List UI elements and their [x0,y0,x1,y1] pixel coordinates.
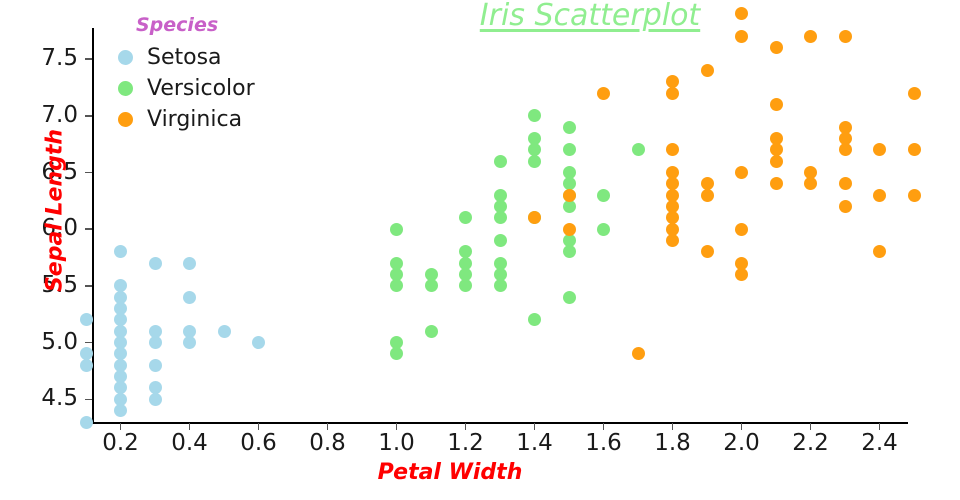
data-point-setosa [149,359,162,372]
data-point-setosa [114,404,127,417]
data-point-virginica [735,30,748,43]
x-axis-title: Petal Width [320,460,580,485]
data-point-virginica [908,189,921,202]
y-tick-mark [85,228,92,230]
data-point-versicolor [563,200,576,213]
x-tick-mark [327,423,329,430]
data-point-virginica [770,177,783,190]
y-tick-label: 5.0 [34,331,78,354]
data-point-versicolor [528,155,541,168]
data-point-versicolor [563,245,576,258]
data-point-versicolor [494,234,507,247]
x-tick-mark [120,423,122,430]
data-point-virginica [701,189,714,202]
data-point-virginica [701,64,714,77]
data-point-versicolor [597,189,610,202]
x-tick-label: 0.4 [160,432,220,455]
x-tick-label: 1.6 [574,432,634,455]
data-point-virginica [666,234,679,247]
data-point-versicolor [494,211,507,224]
data-point-versicolor [459,211,472,224]
data-point-versicolor [390,279,403,292]
y-tick-mark [85,342,92,344]
data-point-virginica [735,223,748,236]
data-point-virginica [908,143,921,156]
data-point-setosa [183,291,196,304]
x-tick-label: 1.2 [436,432,496,455]
data-point-virginica [804,177,817,190]
x-tick-label: 2.4 [850,432,910,455]
data-point-virginica [839,200,852,213]
data-point-versicolor [632,143,645,156]
x-tick-mark [741,423,743,430]
data-point-versicolor [425,279,438,292]
x-tick-label: 2.0 [712,432,772,455]
data-point-versicolor [494,155,507,168]
data-point-setosa [80,359,93,372]
data-point-virginica [701,245,714,258]
data-point-versicolor [563,121,576,134]
x-tick-label: 0.8 [298,432,358,455]
data-point-virginica [528,211,541,224]
data-point-setosa [114,245,127,258]
data-point-virginica [735,166,748,179]
data-point-setosa [80,313,93,326]
data-point-virginica [908,87,921,100]
data-point-virginica [632,347,645,360]
data-point-virginica [770,98,783,111]
data-point-virginica [563,223,576,236]
data-point-virginica [666,87,679,100]
data-point-setosa [218,325,231,338]
x-tick-mark [879,423,881,430]
data-point-versicolor [597,223,610,236]
data-point-virginica [666,143,679,156]
data-point-virginica [873,189,886,202]
data-point-virginica [873,143,886,156]
data-point-virginica [804,30,817,43]
data-point-virginica [770,155,783,168]
y-tick-mark [85,58,92,60]
x-tick-mark [603,423,605,430]
x-tick-mark [396,423,398,430]
x-tick-mark [534,423,536,430]
x-tick-mark [465,423,467,430]
y-tick-mark [85,172,92,174]
data-point-versicolor [528,109,541,122]
data-point-virginica [873,245,886,258]
data-point-virginica [597,87,610,100]
y-tick-mark [85,399,92,401]
data-point-virginica [563,189,576,202]
x-tick-label: 0.6 [229,432,289,455]
data-point-versicolor [425,325,438,338]
plot-area: 4.55.05.56.06.57.07.5 0.20.40.60.81.01.2… [0,0,960,500]
data-point-versicolor [563,291,576,304]
data-point-virginica [770,41,783,54]
x-tick-mark [810,423,812,430]
y-tick-mark [85,285,92,287]
x-tick-label: 1.0 [367,432,427,455]
x-tick-mark [189,423,191,430]
data-point-setosa [149,257,162,270]
x-tick-label: 1.4 [505,432,565,455]
data-point-versicolor [494,279,507,292]
data-point-virginica [735,7,748,20]
data-point-versicolor [563,143,576,156]
data-point-versicolor [390,347,403,360]
scatterplot-figure: Iris Scatterplot Species SetosaVersicolo… [0,0,960,500]
data-point-setosa [149,393,162,406]
x-axis-line [92,422,908,424]
x-tick-label: 2.2 [781,432,841,455]
x-tick-mark [258,423,260,430]
data-point-setosa [80,416,93,429]
data-point-setosa [252,336,265,349]
data-point-setosa [149,336,162,349]
data-point-versicolor [528,313,541,326]
data-point-versicolor [459,279,472,292]
y-tick-label: 7.5 [34,47,78,70]
y-tick-label: 4.5 [34,387,78,410]
x-tick-mark [672,423,674,430]
data-point-virginica [839,177,852,190]
y-tick-mark [85,115,92,117]
data-point-virginica [839,143,852,156]
data-point-versicolor [390,223,403,236]
x-tick-label: 0.2 [91,432,151,455]
data-point-setosa [183,336,196,349]
x-tick-label: 1.8 [643,432,703,455]
data-point-virginica [839,30,852,43]
data-point-virginica [735,268,748,281]
y-axis-title: Sepal Length [43,116,68,306]
data-point-setosa [183,257,196,270]
